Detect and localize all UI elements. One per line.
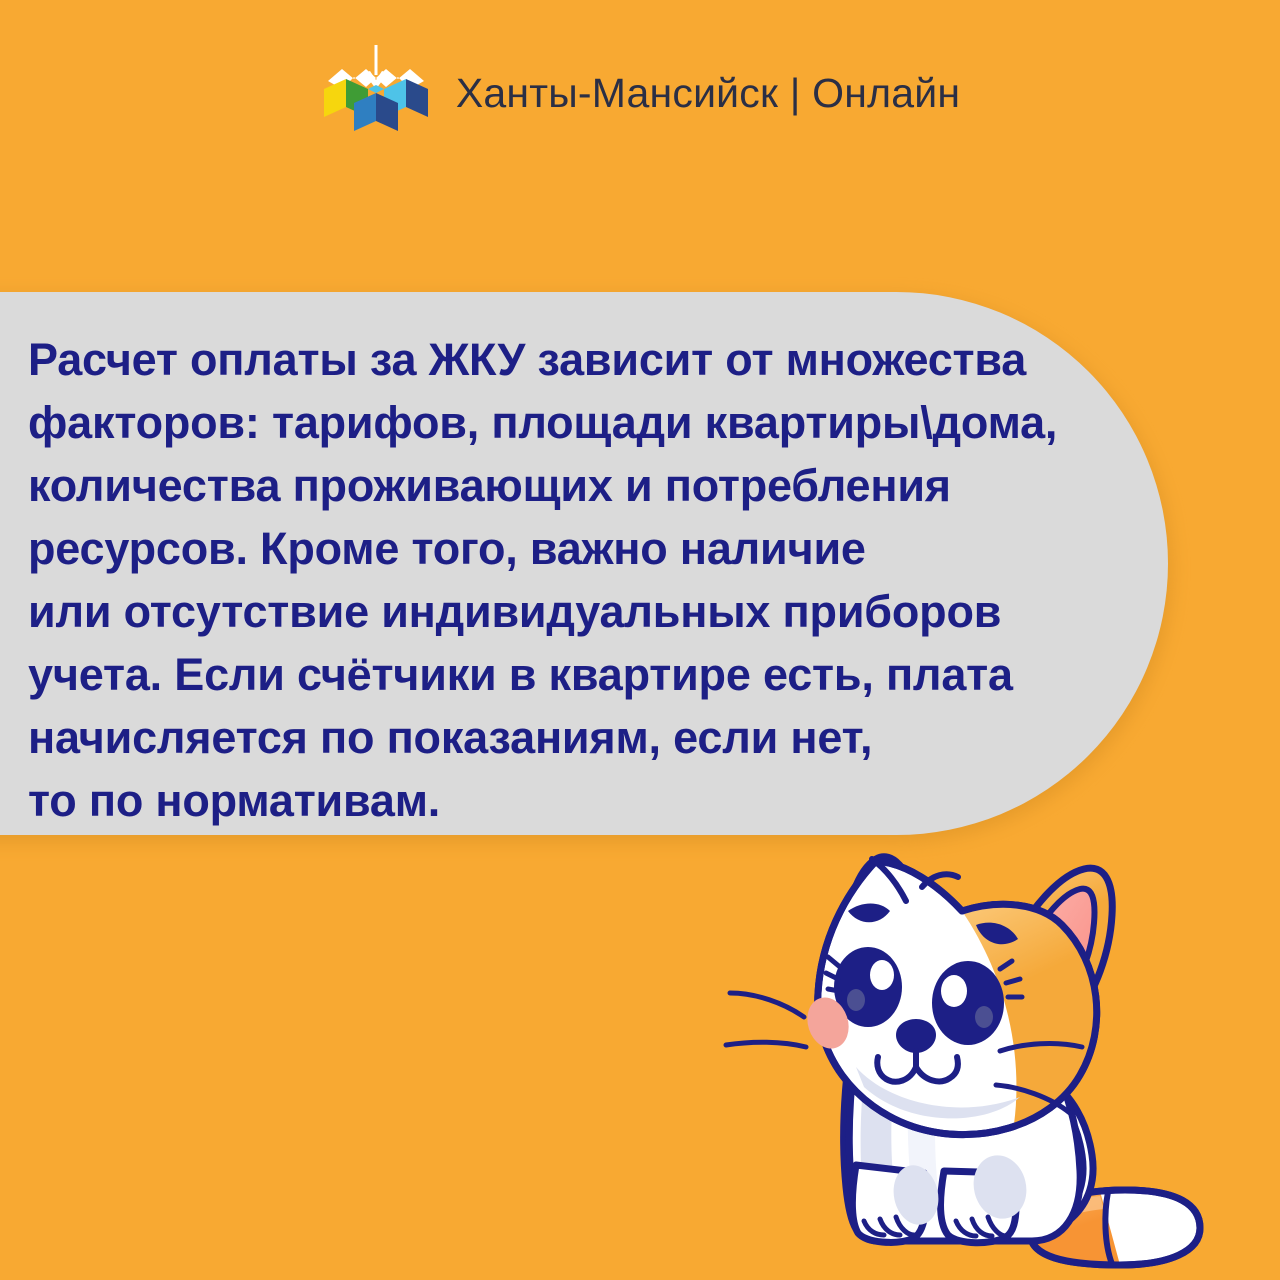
brand-header: Ханты-Мансийск | Онлайн xyxy=(0,38,1280,148)
brand-title: Ханты-Мансийск | Онлайн xyxy=(456,73,960,114)
poster-root: Ханты-Мансийск | Онлайн Расчет оплаты за… xyxy=(0,0,1280,1280)
khanty-mansiysk-chevron-logo-icon xyxy=(320,45,432,141)
sitting-calico-kitten-illustration xyxy=(700,735,1280,1280)
